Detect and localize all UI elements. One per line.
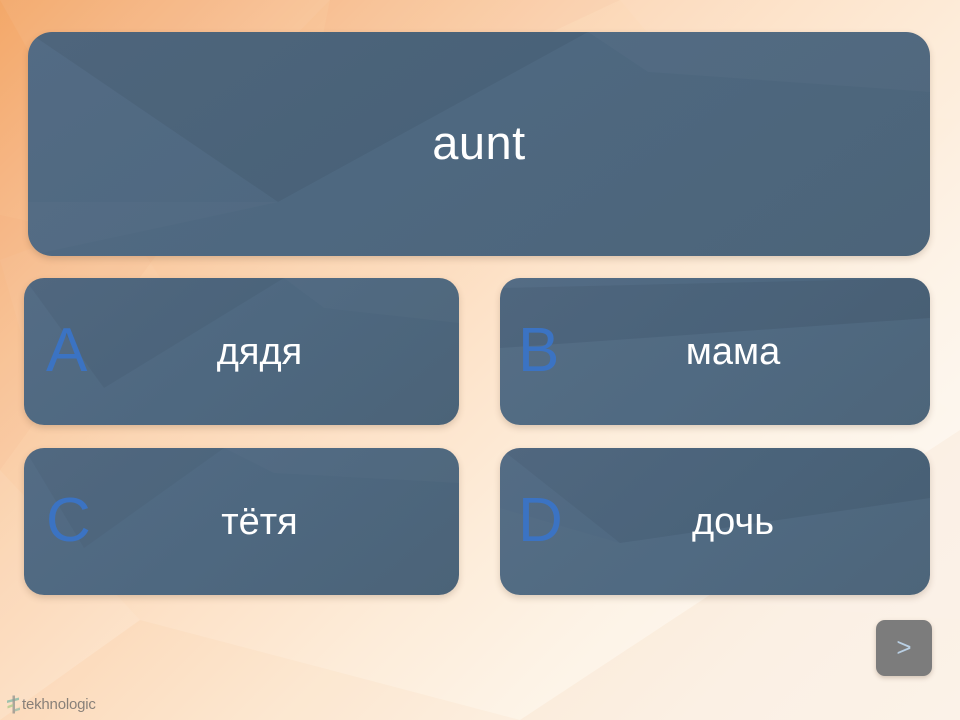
option-b[interactable]: B мама bbox=[500, 278, 930, 425]
option-c-label: тётя bbox=[24, 503, 459, 541]
tekhnologic-logo-icon bbox=[6, 695, 21, 714]
watermark-text: tekhnologic bbox=[22, 697, 96, 712]
next-button[interactable]: > bbox=[876, 620, 932, 676]
option-c[interactable]: C тётя bbox=[24, 448, 459, 595]
option-b-label: мама bbox=[500, 333, 930, 371]
question-card: aunt bbox=[28, 32, 930, 256]
option-a-label: дядя bbox=[24, 333, 459, 371]
option-d[interactable]: D дочь bbox=[500, 448, 930, 595]
chevron-right-icon: > bbox=[896, 634, 911, 660]
question-text: aunt bbox=[432, 119, 525, 166]
watermark: tekhnologic bbox=[6, 695, 96, 714]
option-d-label: дочь bbox=[500, 503, 930, 541]
option-a[interactable]: A дядя bbox=[24, 278, 459, 425]
